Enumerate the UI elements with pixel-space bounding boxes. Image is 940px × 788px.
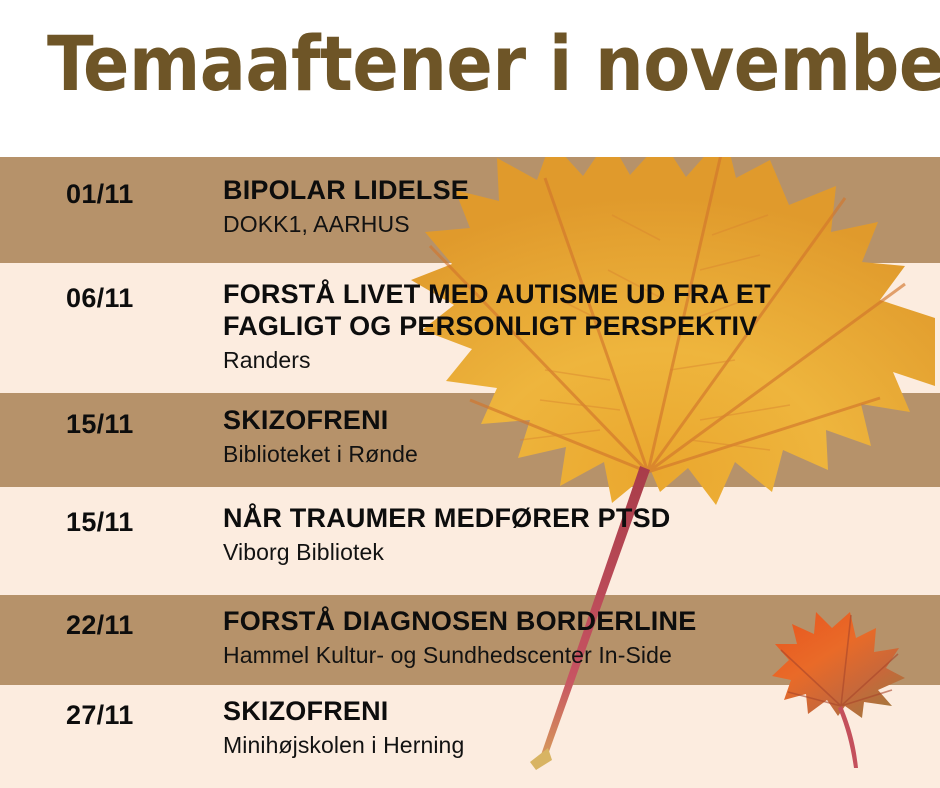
- event-venue: Minihøjskolen i Herning: [223, 732, 913, 760]
- event-text-block: FORSTÅ DIAGNOSEN BORDERLINEHammel Kultur…: [223, 606, 913, 669]
- schedule-list: 01/11BIPOLAR LIDELSEDOKK1, AARHUS06/11FO…: [0, 0, 940, 788]
- event-title: FORSTÅ LIVET MED AUTISME UD FRA ET FAGLI…: [223, 279, 913, 343]
- event-venue: Hammel Kultur- og Sundhedscenter In-Side: [223, 642, 913, 670]
- event-text-block: NÅR TRAUMER MEDFØRER PTSDViborg Bibliote…: [223, 503, 913, 566]
- event-title: SKIZOFRENI: [223, 405, 913, 437]
- schedule-row[interactable]: 27/11SKIZOFRENIMinihøjskolen i Herning: [0, 685, 940, 788]
- event-text-block: BIPOLAR LIDELSEDOKK1, AARHUS: [223, 175, 913, 238]
- event-venue: Randers: [223, 347, 913, 375]
- event-date: 15/11: [66, 409, 134, 440]
- schedule-row[interactable]: 22/11FORSTÅ DIAGNOSEN BORDERLINEHammel K…: [0, 595, 940, 685]
- event-date: 06/11: [66, 283, 134, 314]
- event-text-block: FORSTÅ LIVET MED AUTISME UD FRA ET FAGLI…: [223, 279, 913, 374]
- event-date: 27/11: [66, 700, 134, 731]
- event-title: SKIZOFRENI: [223, 696, 913, 728]
- schedule-row[interactable]: 01/11BIPOLAR LIDELSEDOKK1, AARHUS: [0, 153, 940, 263]
- event-text-block: SKIZOFRENIBiblioteket i Rønde: [223, 405, 913, 468]
- event-date: 15/11: [66, 507, 134, 538]
- event-title: BIPOLAR LIDELSE: [223, 175, 913, 207]
- event-venue: DOKK1, AARHUS: [223, 211, 913, 239]
- schedule-row[interactable]: 15/11NÅR TRAUMER MEDFØRER PTSDViborg Bib…: [0, 487, 940, 595]
- event-date: 01/11: [66, 179, 134, 210]
- event-title: FORSTÅ DIAGNOSEN BORDERLINE: [223, 606, 913, 638]
- event-venue: Viborg Bibliotek: [223, 539, 913, 567]
- event-date: 22/11: [66, 610, 134, 641]
- schedule-row[interactable]: 06/11FORSTÅ LIVET MED AUTISME UD FRA ET …: [0, 263, 940, 393]
- poster-canvas: Temaaftener i november 01/11BIPOLAR LIDE…: [0, 0, 940, 788]
- event-title: NÅR TRAUMER MEDFØRER PTSD: [223, 503, 913, 535]
- schedule-row[interactable]: 15/11SKIZOFRENIBiblioteket i Rønde: [0, 393, 940, 487]
- event-text-block: SKIZOFRENIMinihøjskolen i Herning: [223, 696, 913, 759]
- event-venue: Biblioteket i Rønde: [223, 441, 913, 469]
